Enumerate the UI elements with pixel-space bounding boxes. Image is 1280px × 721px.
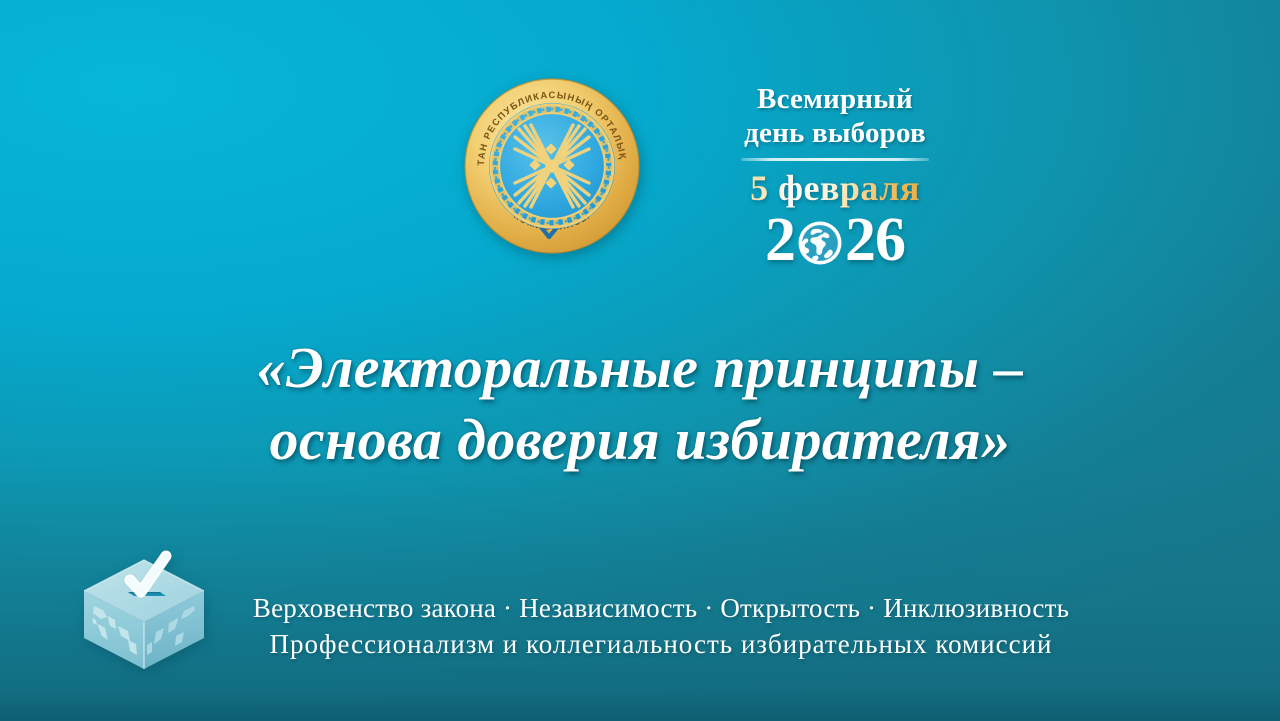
event-title-line2: день выборов <box>645 116 1025 150</box>
poster-canvas: ҚАЗАҚСТАН РЕСПУБЛИКАСЫНЫҢ ОРТАЛЫҚ САЙЛАУ… <box>0 0 1280 721</box>
cec-emblem-svg: ҚАЗАҚСТАН РЕСПУБЛИКАСЫНЫҢ ОРТАЛЫҚ САЙЛАУ… <box>463 77 641 255</box>
header-divider <box>741 158 929 161</box>
principles-block: Верховенство закона · Независимость · От… <box>196 590 1126 662</box>
background-bottom-band <box>0 687 1280 721</box>
principles-line1: Верховенство закона · Независимость · От… <box>196 590 1126 626</box>
event-date: 5 февраля <box>645 167 1025 209</box>
event-year-suffix: 26 <box>845 207 905 273</box>
cec-emblem: ҚАЗАҚСТАН РЕСПУБЛИКАСЫНЫҢ ОРТАЛЫҚ САЙЛАУ… <box>463 77 641 255</box>
principles-line2: Профессионализм и коллегиальность избира… <box>196 626 1126 662</box>
globe-icon <box>796 219 844 267</box>
ballot-box-icon <box>78 548 210 674</box>
ballot-box-svg <box>78 548 210 674</box>
event-year-prefix: 2 <box>765 207 795 273</box>
event-header: Всемирный день выборов 5 февраля 2 26 <box>645 82 1025 273</box>
event-title-line1: Всемирный <box>645 82 1025 116</box>
slogan-line1: «Электоральные принципы – <box>150 332 1130 404</box>
slogan-title: «Электоральные принципы – основа доверия… <box>150 332 1130 476</box>
slogan-line2: основа доверия избирателя» <box>150 404 1130 476</box>
event-year: 2 26 <box>645 207 1025 273</box>
